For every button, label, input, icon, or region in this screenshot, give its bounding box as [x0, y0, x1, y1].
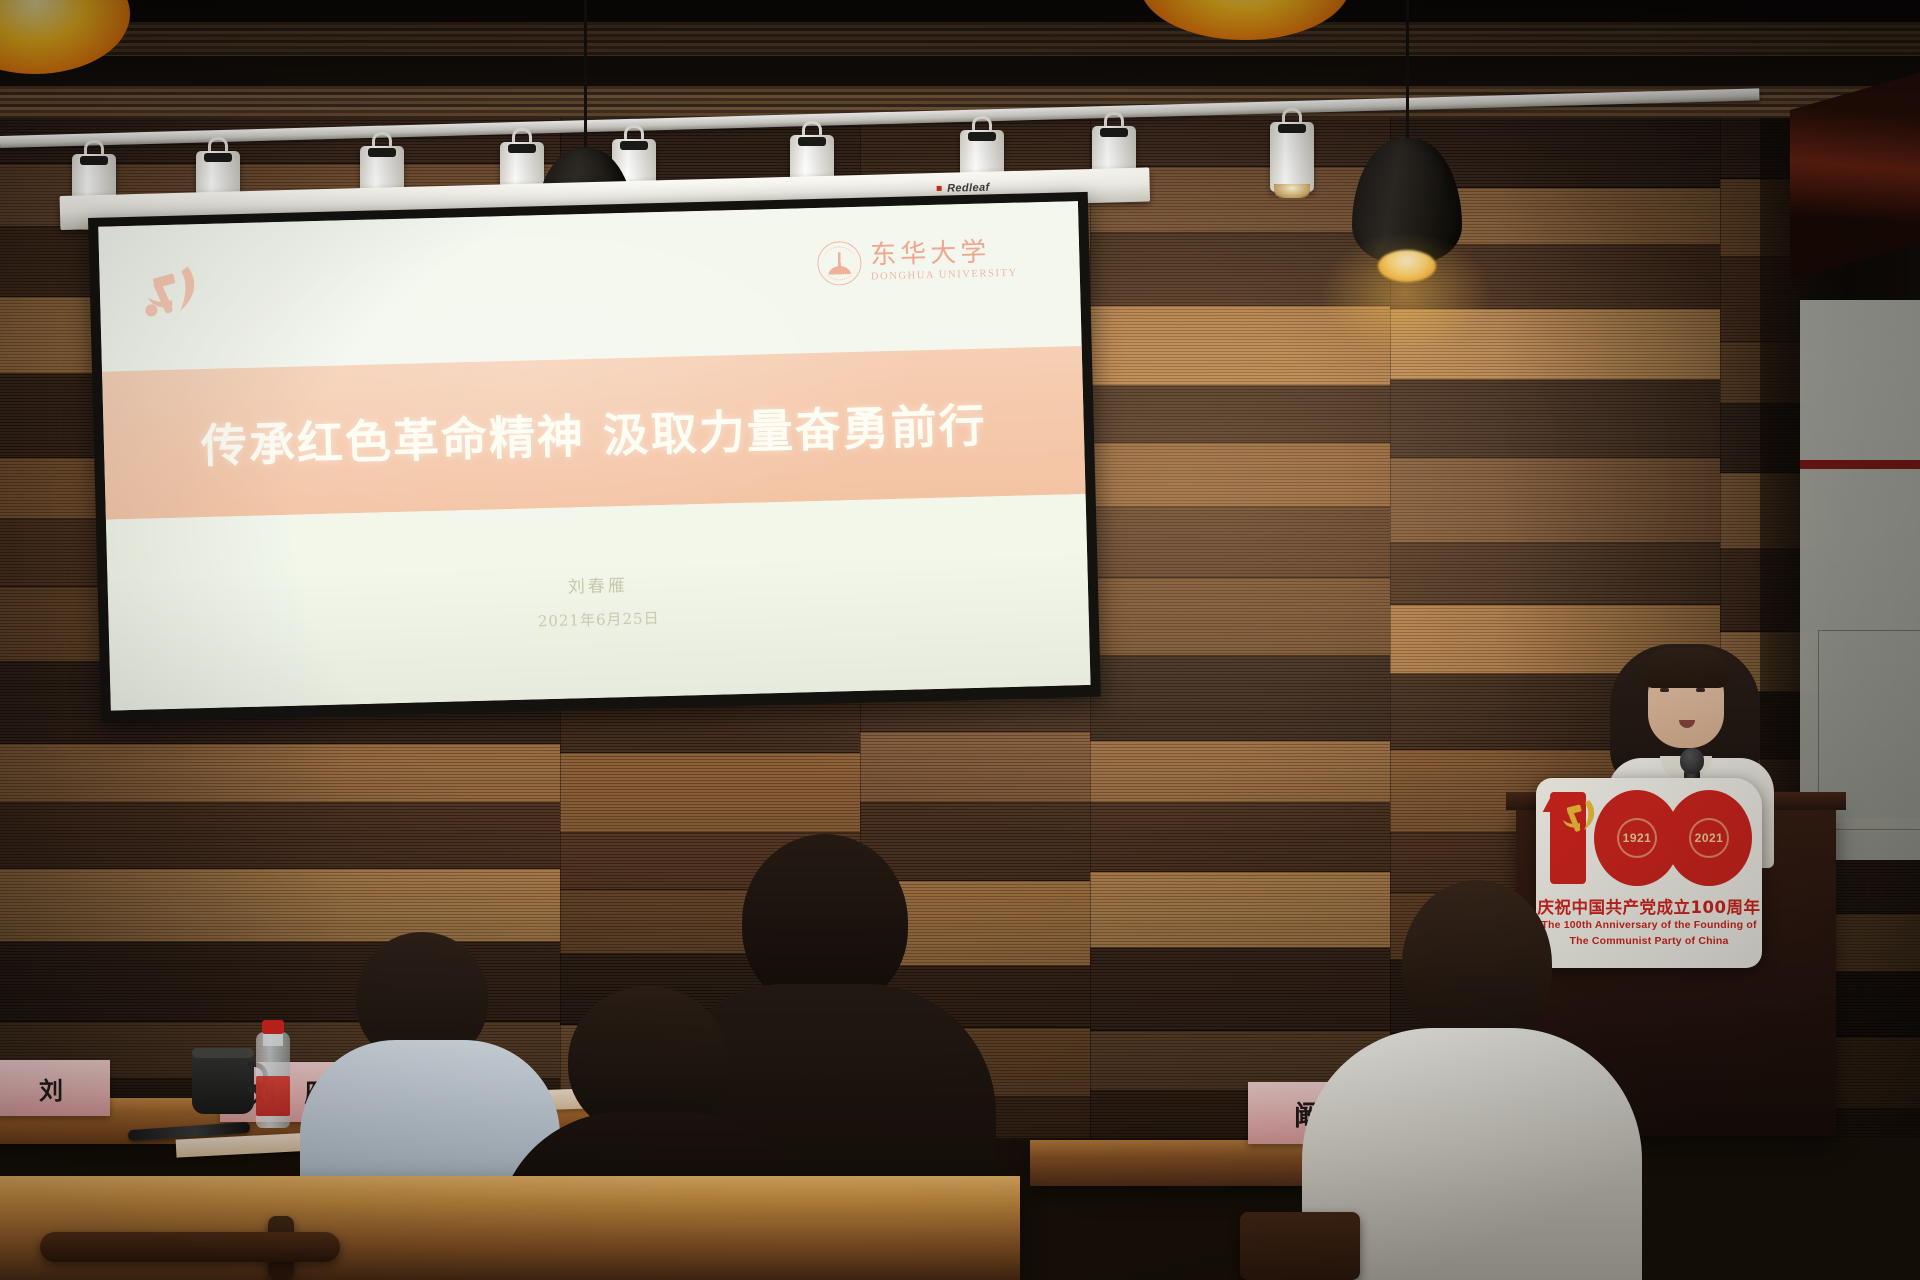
water-bottle — [256, 1032, 290, 1128]
bottle-neck — [263, 1032, 283, 1046]
seal-arcs — [822, 246, 857, 281]
wall-plank — [1390, 543, 1720, 605]
donghua-seal-icon — [817, 241, 862, 286]
wall-plank — [1090, 656, 1390, 741]
bottle-cap — [262, 1020, 284, 1034]
wall-plank — [1090, 741, 1390, 803]
spotlight-neck — [798, 137, 826, 146]
wall-plank — [1390, 380, 1720, 458]
speaker-eye-left — [1660, 688, 1669, 692]
pendant-bulb — [1378, 250, 1436, 282]
spotlight-body — [1270, 122, 1314, 192]
slide-title-text: 传承红色革命精神 汲取力量奋勇前行 — [200, 390, 987, 477]
microphone-head-icon — [1680, 748, 1704, 774]
wall-plank — [1090, 803, 1390, 872]
wall-plank — [1090, 386, 1390, 443]
spotlight-neck — [508, 144, 536, 153]
name-card: 刘 — [0, 1060, 110, 1116]
wall-plank — [1390, 309, 1720, 380]
university-name-en: DONGHUA UNIVERSITY — [871, 268, 1018, 283]
spotlight-neck — [368, 148, 396, 157]
ceiling-slat-band-upper — [0, 22, 1920, 56]
panel-red-stripe — [1800, 460, 1920, 469]
emblem-digit-0-second: 2021 — [1666, 790, 1752, 886]
speaker-fringe — [1642, 648, 1730, 688]
wall-plank — [1090, 233, 1390, 306]
projection-screen: 东华大学 DONGHUA UNIVERSITY 传承红色革命精神 汲取力量奋勇前… — [88, 192, 1101, 723]
person-head — [1402, 880, 1552, 1048]
slide: 东华大学 DONGHUA UNIVERSITY 传承红色革命精神 汲取力量奋勇前… — [98, 201, 1090, 710]
emblem-year-end: 2021 — [1666, 790, 1752, 886]
mug-rim — [192, 1048, 254, 1058]
wall-plank — [560, 753, 860, 833]
spotlight-neck — [1100, 128, 1128, 137]
wall-plank — [0, 803, 560, 869]
bottle-label — [256, 1076, 290, 1116]
spotlight-neck — [620, 141, 648, 150]
spotlight-lens — [1274, 184, 1310, 198]
chair — [1240, 1212, 1360, 1280]
wall-plank — [1090, 578, 1390, 656]
wall-plank — [1090, 306, 1390, 386]
table-front — [0, 1176, 1020, 1280]
wall-plank — [1390, 458, 1720, 543]
projector-brand-label: Redleaf — [937, 182, 990, 195]
university-logo-text: 东华大学 DONGHUA UNIVERSITY — [870, 239, 1018, 283]
slide-title-container: 传承红色革命精神 汲取力量奋勇前行 — [102, 346, 1086, 519]
right-wall-panel — [1800, 300, 1920, 860]
wall-plank — [0, 744, 560, 803]
university-logo: 东华大学 DONGHUA UNIVERSITY — [817, 237, 1018, 286]
brand-dot-icon — [937, 186, 942, 191]
speaker-eye-right — [1696, 688, 1705, 692]
wall-plank — [860, 732, 1090, 803]
presentation-room-scene: Redleaf 东华大学 DONGHU — [0, 0, 1920, 1280]
hammer-and-sickle-icon — [141, 262, 204, 322]
spotlight-neck — [968, 132, 996, 141]
chair — [40, 1232, 340, 1262]
coffee-mug — [192, 1048, 254, 1114]
spotlight-neck — [1278, 124, 1306, 133]
wall-plank — [1090, 507, 1390, 578]
slide-top-area — [98, 201, 1081, 372]
spotlight-neck — [204, 153, 232, 162]
wall-plank — [1090, 443, 1390, 507]
brand-name: Redleaf — [947, 182, 990, 195]
university-name-cn: 东华大学 — [870, 239, 991, 269]
pendant-cord — [584, 0, 587, 150]
emblem-100-number: 1921 2021 — [1546, 786, 1752, 890]
spotlight-neck — [80, 156, 108, 165]
pendant-cord — [1406, 0, 1409, 140]
